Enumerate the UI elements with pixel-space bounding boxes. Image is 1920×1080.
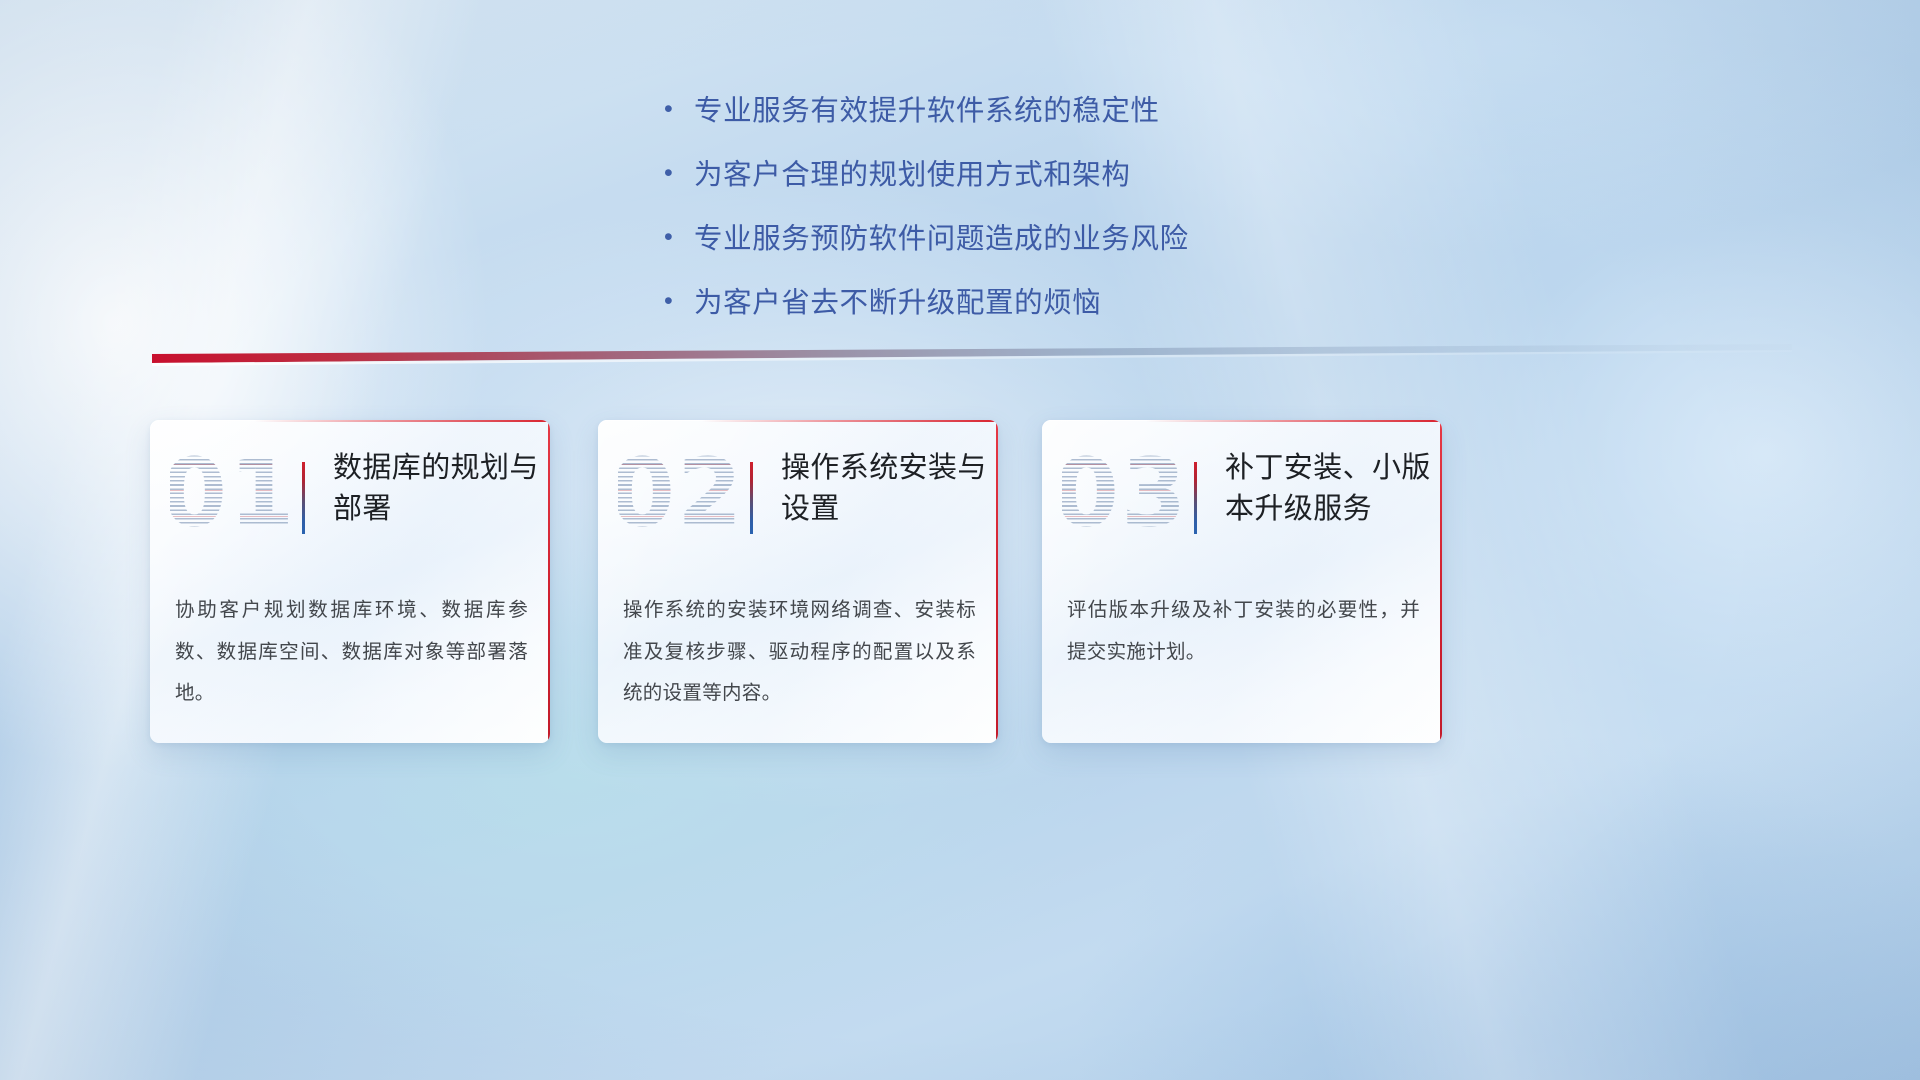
list-item: • 专业服务预防软件问题造成的业务风险: [664, 216, 1189, 257]
list-item: • 为客户省去不断升级配置的烦恼: [664, 280, 1101, 321]
card-title: 数据库的规划与部署: [333, 448, 541, 529]
slide-canvas: • 专业服务有效提升软件系统的稳定性 • 为客户合理的规划使用方式和架构 • 专…: [0, 0, 1920, 1080]
bullet-text-4: 为客户省去不断升级配置的烦恼: [694, 280, 1101, 321]
card-title-divider: [750, 462, 753, 534]
card-description: 操作系统的安装环境网络调查、安装标准及复核步骤、驱动程序的配置以及系统的设置等内…: [623, 590, 976, 715]
card-header: 02 02 操作系统安装与设置: [598, 420, 998, 575]
benefits-bullet-list: • 专业服务有效提升软件系统的稳定性 • 为客户合理的规划使用方式和架构 • 专…: [0, 88, 1920, 321]
card-description: 协助客户规划数据库环境、数据库参数、数据库空间、数据库对象等部署落地。: [175, 590, 528, 715]
card-title: 补丁安装、小版本升级服务: [1225, 448, 1433, 529]
card-title: 操作系统安装与设置: [781, 448, 989, 529]
card-header: 01 01 数据库的规划与部署: [150, 420, 550, 575]
bullet-dot-icon: •: [664, 225, 694, 250]
bullet-dot-icon: •: [664, 97, 694, 122]
list-item: • 为客户合理的规划使用方式和架构: [664, 152, 1131, 193]
card-title-divider: [302, 462, 305, 534]
bullet-text-2: 为客户合理的规划使用方式和架构: [694, 152, 1131, 193]
service-card-01[interactable]: 01 01 数据库的规划与部署 协助客户规划数据库环境、数据库参数、数据库空间、…: [150, 420, 550, 743]
service-card-02[interactable]: 02 02 操作系统安装与设置 操作系统的安装环境网络调查、安装标准及复核步骤、…: [598, 420, 998, 743]
bullet-dot-icon: •: [664, 289, 694, 314]
service-cards-row: 01 01 数据库的规划与部署 协助客户规划数据库环境、数据库参数、数据库空间、…: [150, 420, 1460, 750]
bullet-dot-icon: •: [664, 161, 694, 186]
list-item: • 专业服务有效提升软件系统的稳定性: [664, 88, 1160, 129]
card-number-watermark-tint: 02: [618, 438, 736, 548]
card-title-divider: [1194, 462, 1197, 534]
bullet-text-1: 专业服务有效提升软件系统的稳定性: [694, 88, 1160, 129]
card-description: 评估版本升级及补丁安装的必要性，并提交实施计划。: [1067, 590, 1420, 673]
card-number-watermark-tint: 01: [170, 438, 288, 548]
bullet-text-3: 专业服务预防软件问题造成的业务风险: [694, 216, 1189, 257]
service-card-03[interactable]: 03 03 补丁安装、小版本升级服务 评估版本升级及补丁安装的必要性，并提交实施…: [1042, 420, 1442, 743]
card-number-watermark-tint: 03: [1062, 438, 1180, 548]
card-header: 03 03 补丁安装、小版本升级服务: [1042, 420, 1442, 575]
